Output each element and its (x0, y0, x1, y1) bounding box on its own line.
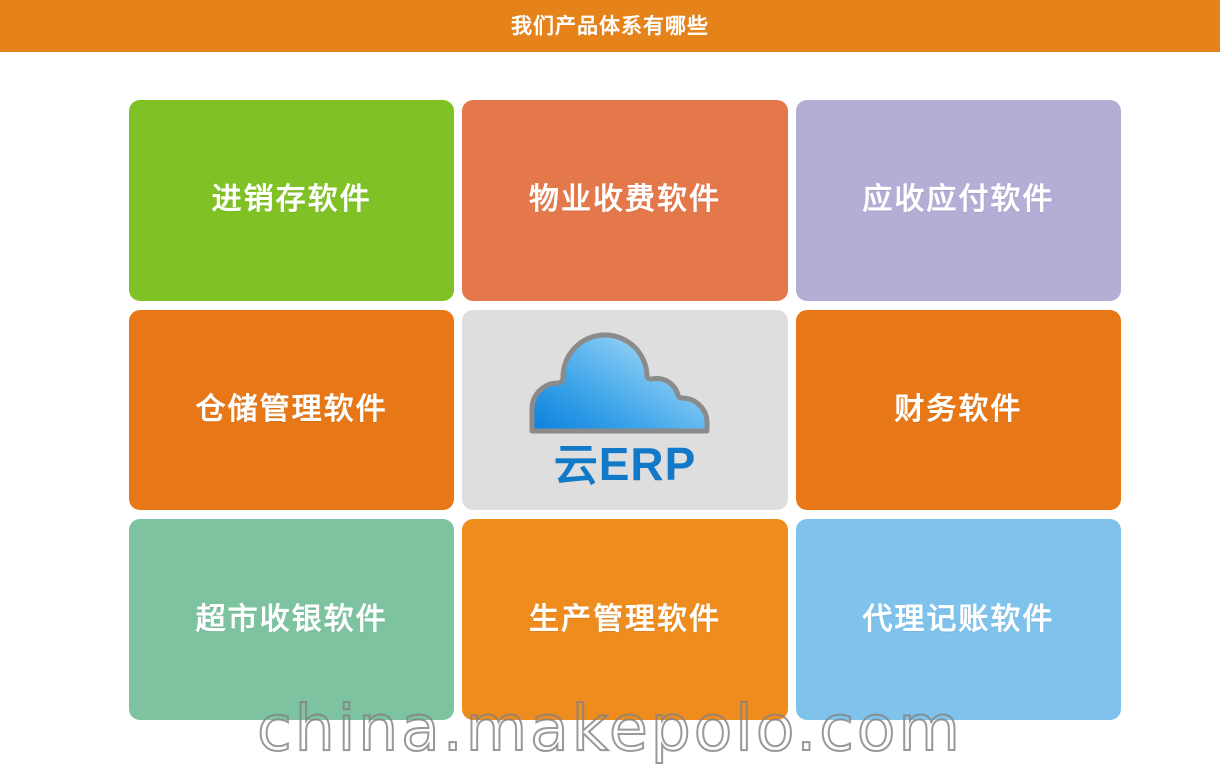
logo-erp-text: ERP (599, 441, 697, 487)
product-grid: 进销存软件 物业收费软件 应收应付软件 仓储管理软件 云 ERP 财 (129, 100, 1121, 720)
tile-label: 财务软件 (894, 395, 1022, 425)
tile-label: 代理记账软件 (862, 605, 1054, 635)
tile-label: 超市收银软件 (196, 605, 388, 635)
tile-production-software[interactable]: 生产管理软件 (462, 519, 787, 720)
header-bar: 我们产品体系有哪些 (0, 0, 1220, 52)
logo-wordmark: 云 ERP (554, 441, 697, 488)
tile-property-fee-software[interactable]: 物业收费软件 (462, 100, 787, 301)
tile-label: 应收应付软件 (862, 185, 1054, 215)
tile-label: 进销存软件 (212, 185, 372, 215)
tile-label: 物业收费软件 (529, 185, 721, 215)
tile-label: 生产管理软件 (529, 605, 721, 635)
cloud-icon (519, 331, 731, 435)
tile-supermarket-pos-software[interactable]: 超市收银软件 (129, 519, 454, 720)
page-title: 我们产品体系有哪些 (511, 16, 709, 37)
tile-warehouse-software[interactable]: 仓储管理软件 (129, 310, 454, 511)
tile-finance-software[interactable]: 财务软件 (796, 310, 1121, 511)
tile-inventory-software[interactable]: 进销存软件 (129, 100, 454, 301)
tile-label: 仓储管理软件 (196, 395, 388, 425)
tile-bookkeeping-software[interactable]: 代理记账软件 (796, 519, 1121, 720)
tile-receivable-payable-software[interactable]: 应收应付软件 (796, 100, 1121, 301)
tile-cloud-erp-logo[interactable]: 云 ERP (462, 310, 787, 511)
logo-cloud-character: 云 (554, 444, 598, 488)
